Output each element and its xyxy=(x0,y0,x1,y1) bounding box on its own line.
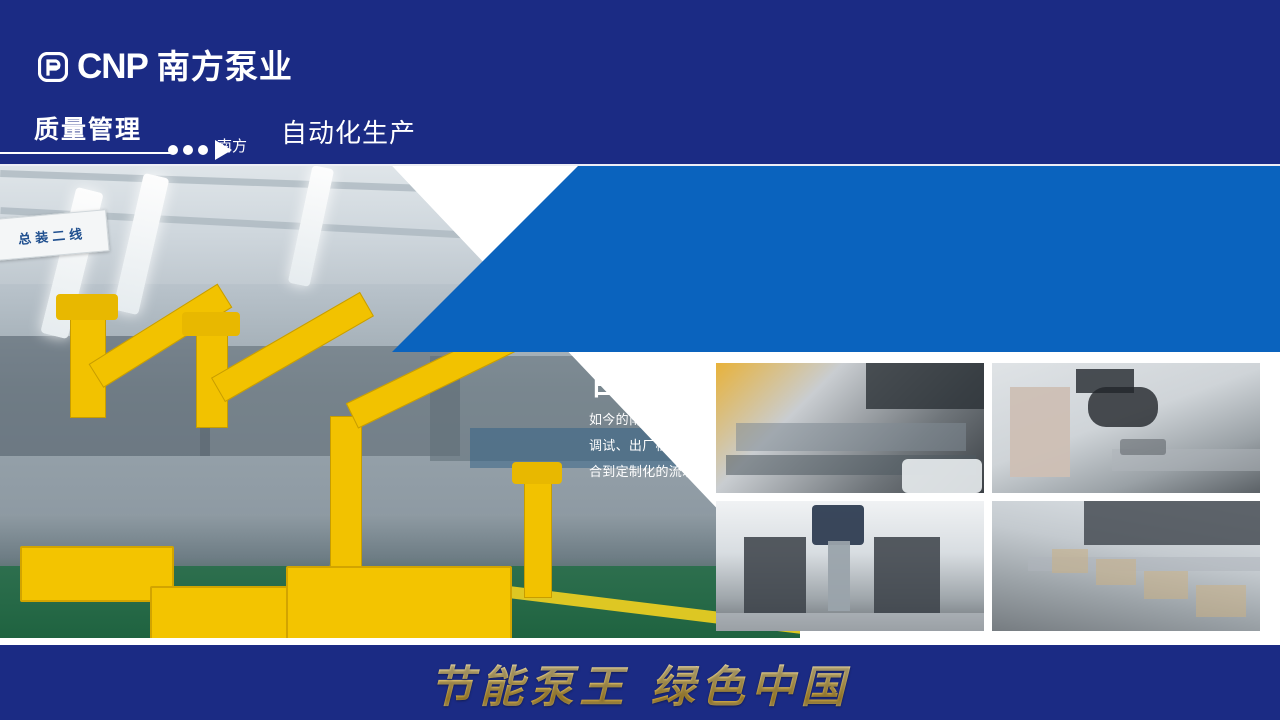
thumbnail-image[interactable] xyxy=(992,501,1260,631)
three-dots-icon xyxy=(183,145,193,155)
kicker-underline xyxy=(0,152,175,154)
brand-logo: CNP 南方泵业 xyxy=(38,52,293,82)
breadcrumb: 南方 xyxy=(217,135,247,156)
section-kicker: 质量管理 xyxy=(34,110,142,146)
thumbnail-image[interactable] xyxy=(992,363,1260,493)
slide-header: CNP 南方泵业 质量管理 南方 自动化生产 xyxy=(0,0,1280,166)
factory-sign-text: 总装二线 xyxy=(0,221,108,250)
robot-base xyxy=(286,566,512,638)
cnp-p-monogram-icon xyxy=(38,52,68,82)
robot-joint xyxy=(56,294,118,320)
page-title: 自动化生产 xyxy=(281,113,416,150)
footer-slogan: 节能泵王 绿色中国 xyxy=(0,645,1280,720)
slide-body: 总装二线 自动化生产 如今的南方泵业，将自动化技术覆盖到零部件加工生产、整泵装配… xyxy=(0,166,1280,645)
robot-joint xyxy=(182,312,240,336)
logo-latin-text: CNP xyxy=(77,52,148,82)
thumbnail-grid xyxy=(716,363,1260,631)
footer-slogan-text: 节能泵王 绿色中国 xyxy=(429,651,850,715)
robot-arm xyxy=(330,416,362,568)
three-dots-icon xyxy=(168,145,178,155)
thumbnail-image[interactable] xyxy=(716,363,984,493)
logo-chinese-text: 南方泵业 xyxy=(157,52,293,82)
robot-joint xyxy=(512,462,562,484)
three-dots-icon xyxy=(198,145,208,155)
thumbnail-image[interactable] xyxy=(716,501,984,631)
info-panel xyxy=(392,166,1280,352)
slide-root: CNP 南方泵业 质量管理 南方 自动化生产 xyxy=(0,0,1280,720)
robot-arm xyxy=(524,466,552,598)
